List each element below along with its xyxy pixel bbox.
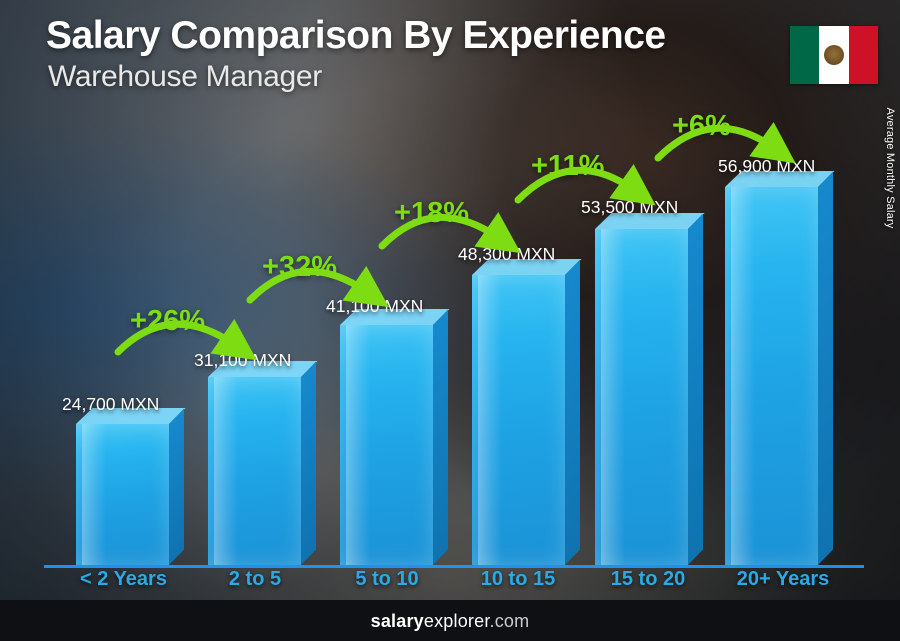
bar-5 (725, 187, 818, 565)
x-axis-label-2: 5 to 10 (322, 568, 452, 591)
bar-front-face (595, 229, 688, 565)
bar-front-face (340, 325, 433, 565)
bar-side-face (565, 259, 580, 565)
x-axis-label-4: 15 to 20 (578, 568, 718, 591)
chart-canvas: Salary Comparison By Experience Warehous… (0, 0, 900, 641)
footer-brand-rest: explorer (424, 611, 490, 631)
footer-brand-tld: .com (490, 611, 530, 631)
growth-label-4: +6% (672, 110, 731, 143)
bar-1 (208, 377, 301, 565)
growth-label-1: +32% (262, 251, 337, 284)
bar-value-label-0: 24,700 MXN (62, 394, 159, 415)
bar-side-face (688, 213, 703, 565)
bar-side-face (169, 408, 184, 565)
bar-front-face (472, 275, 565, 565)
x-axis-label-1: 2 to 5 (190, 568, 320, 591)
growth-label-2: +18% (394, 197, 469, 230)
growth-label-3: +11% (531, 150, 604, 183)
bar-side-face (433, 309, 448, 565)
x-axis-label-3: 10 to 15 (448, 568, 588, 591)
bar-chart: 24,700 MXN 31,100 MXN 41,100 MXN 48,300 … (0, 0, 900, 641)
bar-front-face (725, 187, 818, 565)
footer-brand-bold: salary (371, 611, 424, 631)
bar-side-face (818, 171, 833, 565)
bar-value-label-1: 31,100 MXN (194, 350, 291, 371)
bar-value-label-3: 48,300 MXN (458, 244, 555, 265)
growth-label-0: +26% (130, 305, 205, 338)
x-axis-label-5: 20+ Years (708, 568, 858, 591)
bar-value-label-4: 53,500 MXN (581, 197, 678, 218)
footer-brand[interactable]: salaryexplorer.com (0, 611, 900, 632)
bar-4 (595, 229, 688, 565)
bar-3 (472, 275, 565, 565)
bar-front-face (76, 424, 169, 565)
x-axis-label-0: < 2 Years (56, 568, 191, 591)
bar-value-label-2: 41,100 MXN (326, 296, 423, 317)
bar-front-face (208, 377, 301, 565)
bar-0 (76, 424, 169, 565)
bar-side-face (301, 361, 316, 565)
bar-value-label-5: 56,900 MXN (718, 156, 815, 177)
bar-2 (340, 325, 433, 565)
